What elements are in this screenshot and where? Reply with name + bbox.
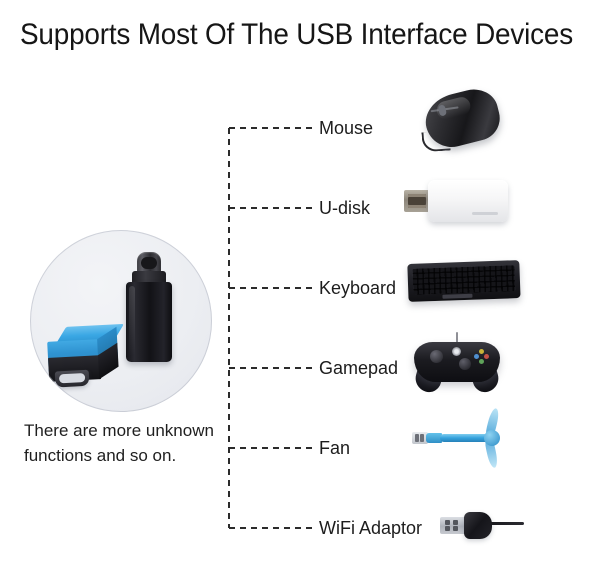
gamepad-right-stick [459,358,471,370]
device-label-fan: Fan [319,438,350,458]
adapter-blue-usbc-tip [55,370,90,388]
device-label-keyboard: Keyboard [319,278,396,298]
keyboard-keys [412,265,515,295]
usb-flash-drive-icon [404,178,510,226]
gamepad-face-buttons [474,349,490,365]
keyboard-icon [407,260,520,306]
wifi-adaptor-body [464,512,492,539]
left-panel-caption: There are more unknown functions and so … [24,418,234,468]
usb-c-otg-adapter-black-icon [126,252,172,362]
udisk-body [428,180,508,222]
device-label-u-disk: U-disk [319,198,370,218]
page-title: Supports Most Of The USB Interface Devic… [20,16,573,54]
adapter-blue-top [56,324,124,345]
adapter-black-neck [132,271,166,285]
adapter-black-usbc-tip [137,252,161,274]
wifi-adaptor-cable [490,522,524,525]
caption-line-2: functions and so on. [24,443,234,468]
device-label-wifi-adaptor: WiFi Adaptor [319,518,422,538]
device-label-mouse: Mouse [319,118,373,138]
gamepad-guide-button [452,347,461,356]
device-label-gamepad: Gamepad [319,358,398,378]
gamepad-left-stick [430,350,443,363]
udisk-usb-connector [404,190,430,212]
mouse-icon [411,78,516,164]
fan-hub [484,430,500,446]
caption-line-1: There are more unknown [24,418,234,443]
usb-c-otg-adapter-blue-icon [46,324,121,390]
usb-fan-icon [412,412,516,468]
adapter-blue-face [47,339,100,372]
gamepad-icon [414,332,500,394]
wifi-adaptor-icon [440,506,524,544]
wifi-usb-connector [440,517,466,534]
product-photo-circle [30,230,212,412]
adapter-blue-side [97,327,118,370]
adapter-black-body [126,282,172,362]
adapter-blue-dark-side [98,343,119,380]
adapter-blue-dark-face [48,355,101,382]
infographic-canvas: Supports Most Of The USB Interface Devic… [0,0,600,571]
